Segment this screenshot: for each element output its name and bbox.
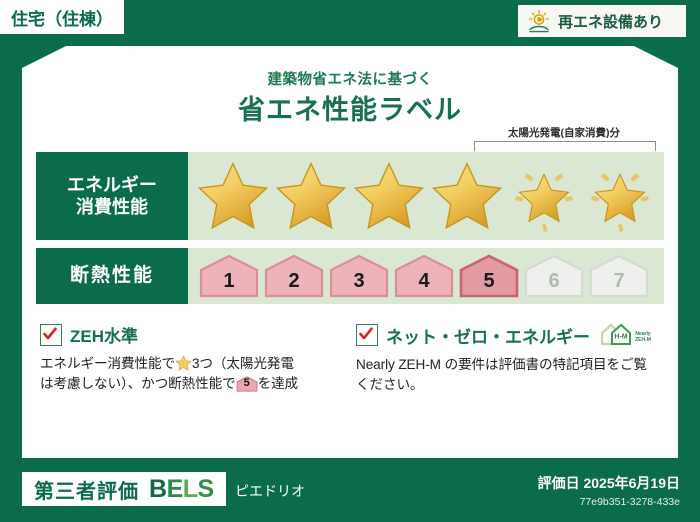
grade-value: 5 xyxy=(483,270,494,298)
renewable-equipment-badge: 再エネ設備あり xyxy=(518,5,686,37)
bels-energy-label: 住宅（住棟） 再エネ設備あり 建築物省エネ法に基づく 省エネ性能ラベル エネルギ… xyxy=(0,0,700,522)
star-4 xyxy=(430,160,504,232)
svg-text:ZEH-M: ZEH-M xyxy=(635,337,651,343)
label-card: 建築物省エネ法に基づく 省エネ性能ラベル エネルギー 消費性能 太陽光発電(自家… xyxy=(22,46,678,458)
check-icon xyxy=(43,327,57,341)
bels-logo: 第三者評価 BELS xyxy=(22,472,226,506)
grade-value: 3 xyxy=(353,270,364,298)
grade-badge-7: 7 xyxy=(588,254,650,298)
building-type-tag: 住宅（住棟） xyxy=(0,0,124,34)
record-id: 77e9b351-3278-433e xyxy=(538,496,680,508)
grade-badge-3: 3 xyxy=(328,254,390,298)
inline-star-icon xyxy=(175,355,192,371)
grade-badge-2: 2 xyxy=(263,254,325,298)
grade-value: 1 xyxy=(223,270,234,298)
label-title: 省エネ性能ラベル xyxy=(22,88,678,127)
grade-badge-5-achieved: 5 xyxy=(458,254,520,298)
zeh-checkbox xyxy=(40,324,62,346)
energy-performance-label: エネルギー 消費性能 xyxy=(36,152,188,240)
label-subtitle: 建築物省エネ法に基づく xyxy=(22,68,678,89)
star-2 xyxy=(274,160,348,232)
insulation-performance-row: 断熱性能 1 2 3 xyxy=(36,248,664,304)
evaluation-meta: 評価日 2025年6月19日 77e9b351-3278-433e xyxy=(538,473,680,508)
grade-badge-4: 4 xyxy=(393,254,455,298)
energy-label-line2: 消費性能 xyxy=(76,196,148,219)
zeh-text-part1: エネルギー消費性能で xyxy=(40,356,175,371)
svg-text:H-M: H-M xyxy=(614,334,627,341)
zeh-m-house-logo-icon: H-M Nearly ZEH-M xyxy=(598,322,660,348)
zeh-description: エネルギー消費性能で3つ（太陽光発電 は考慮しない）、かつ断熱性能で5を達成 xyxy=(40,354,338,395)
zeh-star-count-text: 3つ（太陽光発電 xyxy=(192,356,294,371)
solar-note-text: 太陽光発電(自家消費)分 xyxy=(470,125,658,140)
building-name: ピエドリオ xyxy=(235,481,305,501)
renewable-badge-label: 再エネ設備あり xyxy=(558,11,663,32)
star-6-solar xyxy=(584,163,656,233)
insulation-label-text: 断熱性能 xyxy=(70,264,154,288)
insulation-performance-body: 1 2 3 4 5 xyxy=(188,248,664,304)
footer: 第三者評価 BELS ピエドリオ 評価日 2025年6月19日 77e9b351… xyxy=(0,458,700,522)
bels-jp-text: 第三者評価 xyxy=(34,475,139,504)
check-icon xyxy=(359,327,373,341)
grade-badge-6: 6 xyxy=(523,254,585,298)
netzero-checkbox xyxy=(356,324,378,346)
grade-value: 4 xyxy=(418,270,429,298)
inline-grade-value: 5 xyxy=(236,376,258,392)
zeh-text-part3: を達成 xyxy=(258,376,298,391)
netzero-column: ネット・ゼロ・エネルギー H-M Nearly ZEH-M Nearly ZEH… xyxy=(356,322,660,440)
zeh-text-part2: は考慮しない）、かつ断熱性能で xyxy=(40,376,236,391)
zeh-title: ZEH水準 xyxy=(70,322,138,347)
insulation-performance-label: 断熱性能 xyxy=(36,248,188,304)
zeh-column: ZEH水準 エネルギー消費性能で3つ（太陽光発電 は考慮しない）、かつ断熱性能で… xyxy=(40,322,338,440)
grade-value: 2 xyxy=(288,270,299,298)
energy-performance-row: エネルギー 消費性能 太陽光発電(自家消費)分 xyxy=(36,152,664,240)
building-type-text: 住宅（住棟） xyxy=(11,5,113,30)
energy-performance-body: 太陽光発電(自家消費)分 xyxy=(188,152,664,240)
sun-icon xyxy=(526,9,552,33)
star-5-solar xyxy=(508,163,580,233)
netzero-description: Nearly ZEH-M の要件は評価書の特記項目をご覧ください。 xyxy=(356,355,660,396)
grade-value: 7 xyxy=(613,270,624,298)
netzero-heading: ネット・ゼロ・エネルギー H-M Nearly ZEH-M xyxy=(356,322,660,348)
grade-badge-1: 1 xyxy=(198,254,260,298)
energy-label-line1: エネルギー xyxy=(67,174,157,197)
zeh-heading: ZEH水準 xyxy=(40,322,338,347)
star-rating: 太陽光発電(自家消費)分 xyxy=(188,159,664,233)
star-3 xyxy=(352,160,426,232)
netzero-title: ネット・ゼロ・エネルギー xyxy=(386,323,590,348)
insulation-grade-scale: 1 2 3 4 5 xyxy=(188,254,650,298)
evaluation-date: 評価日 2025年6月19日 xyxy=(538,473,680,493)
star-1 xyxy=(196,160,270,232)
bels-en-text: BELS xyxy=(149,475,214,504)
grade-value: 6 xyxy=(548,270,559,298)
inline-grade-badge: 5 xyxy=(236,376,258,392)
solar-bracket xyxy=(474,141,656,151)
info-section: ZEH水準 エネルギー消費性能で3つ（太陽光発電 は考慮しない）、かつ断熱性能で… xyxy=(40,322,660,440)
